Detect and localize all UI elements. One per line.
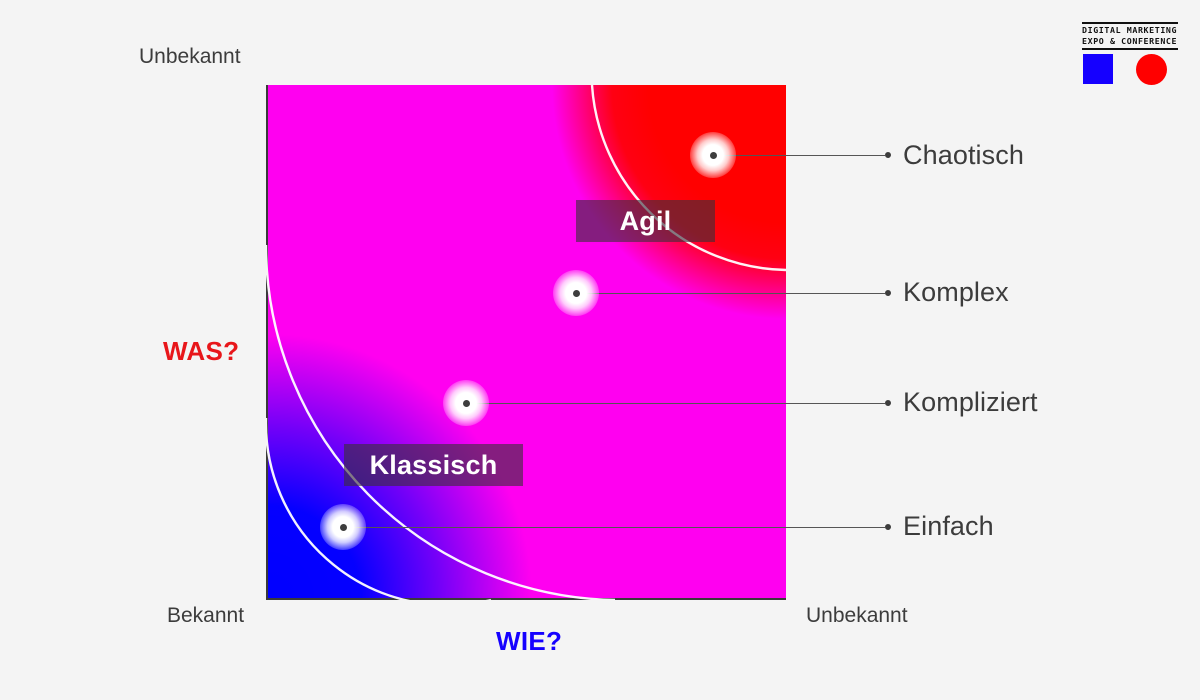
matrix-plot-area: [266, 85, 786, 600]
logo-shapes: [1082, 54, 1178, 84]
callout-label-einfach: Einfach: [903, 511, 994, 542]
x-axis-title: WIE?: [496, 626, 562, 657]
callout-label-komplex: Komplex: [903, 277, 1009, 308]
dmexco-logo: DIGITAL MARKETING EXPO & CONFERENCE: [1082, 22, 1178, 84]
red-circle-icon: [1136, 54, 1167, 85]
connector-line-einfach: [343, 527, 885, 528]
x-axis-left-label: Bekannt: [167, 604, 244, 628]
gradient-surface: [266, 85, 786, 600]
callout-label-chaotisch: Chaotisch: [903, 140, 1024, 171]
callout-dot-kompliziert: [885, 400, 891, 406]
blue-square-icon: [1083, 54, 1113, 84]
y-axis-title: WAS?: [163, 336, 239, 367]
x-axis-right-label: Unbekannt: [806, 604, 908, 628]
logo-rule-bottom: [1082, 48, 1178, 50]
y-axis-top-label: Unbekannt: [139, 45, 241, 69]
category-box-klassisch: Klassisch: [344, 444, 523, 486]
callout-dot-komplex: [885, 290, 891, 296]
callout-label-kompliziert: Kompliziert: [903, 387, 1038, 418]
callout-dot-einfach: [885, 524, 891, 530]
category-box-agil: Agil: [576, 200, 715, 242]
category-label-klassisch: Klassisch: [370, 450, 498, 481]
category-label-agil: Agil: [620, 206, 672, 237]
logo-text-line-2: EXPO & CONFERENCE: [1082, 36, 1178, 47]
connector-line-kompliziert: [466, 403, 885, 404]
logo-rule-top: [1082, 22, 1178, 24]
callout-dot-chaotisch: [885, 152, 891, 158]
logo-text-line-1: DIGITAL MARKETING: [1082, 25, 1178, 36]
infographic-canvas: DIGITAL MARKETING EXPO & CONFERENCE Agil…: [0, 0, 1200, 700]
connector-line-komplex: [576, 293, 885, 294]
connector-line-chaotisch: [713, 155, 885, 156]
